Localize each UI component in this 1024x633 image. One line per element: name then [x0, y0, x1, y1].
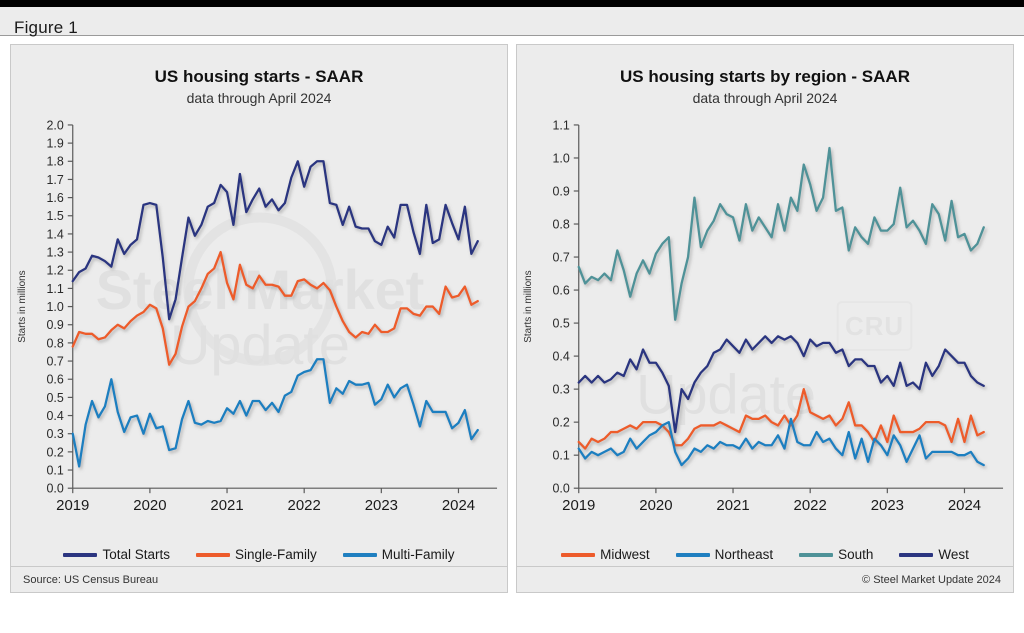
svg-text:1.0: 1.0 — [46, 300, 63, 314]
left-chart-subtitle: data through April 2024 — [11, 90, 507, 106]
svg-text:2023: 2023 — [871, 497, 904, 514]
legend-swatch-icon — [561, 553, 595, 557]
legend-swatch-icon — [676, 553, 710, 557]
right-panel-footer: © Steel Market Update 2024 — [517, 566, 1013, 592]
svg-text:CRU: CRU — [845, 313, 904, 341]
svg-text:0.0: 0.0 — [552, 482, 569, 496]
right-chart-subtitle: data through April 2024 — [517, 90, 1013, 106]
svg-text:0.5: 0.5 — [46, 391, 63, 405]
svg-text:0.3: 0.3 — [552, 383, 569, 397]
svg-text:0.0: 0.0 — [46, 482, 63, 496]
svg-text:0.7: 0.7 — [552, 251, 569, 265]
svg-text:0.3: 0.3 — [46, 427, 63, 441]
svg-text:1.6: 1.6 — [46, 191, 63, 205]
right-chart-svg: UpdateCRU 0.00.10.20.30.40.50.60.70.80.9… — [517, 115, 1013, 530]
left-chart-title: US housing starts - SAAR — [11, 67, 507, 87]
svg-text:1.1: 1.1 — [552, 118, 569, 132]
legend-label: Multi-Family — [382, 547, 455, 562]
svg-text:1.5: 1.5 — [46, 209, 63, 223]
svg-text:2019: 2019 — [56, 497, 89, 514]
svg-text:1.9: 1.9 — [46, 137, 63, 151]
svg-text:1.7: 1.7 — [46, 173, 63, 187]
legend-label: West — [938, 547, 969, 562]
svg-text:2022: 2022 — [794, 497, 827, 514]
svg-text:0.5: 0.5 — [552, 317, 569, 331]
svg-text:1.8: 1.8 — [46, 155, 63, 169]
svg-text:0.7: 0.7 — [46, 355, 63, 369]
svg-text:2021: 2021 — [210, 497, 243, 514]
figure-page: Figure 1 US housing starts - SAAR data t… — [0, 0, 1024, 633]
svg-text:2020: 2020 — [133, 497, 166, 514]
figure-label: Figure 1 — [14, 18, 78, 38]
legend-swatch-icon — [799, 553, 833, 557]
left-chart-svg: Steel MarketUpdate 0.00.10.20.30.40.50.6… — [11, 115, 507, 530]
series-line-south — [579, 148, 984, 320]
legend-label: Midwest — [600, 547, 650, 562]
svg-text:0.2: 0.2 — [46, 445, 63, 459]
legend-swatch-icon — [196, 553, 230, 557]
svg-text:1.1: 1.1 — [46, 282, 63, 296]
svg-text:0.8: 0.8 — [552, 218, 569, 232]
svg-text:2022: 2022 — [288, 497, 321, 514]
legend-item-single-family[interactable]: Single-Family — [196, 547, 317, 562]
legend-swatch-icon — [343, 553, 377, 557]
svg-text:0.8: 0.8 — [46, 336, 63, 350]
panels-container: US housing starts - SAAR data through Ap… — [10, 44, 1014, 593]
svg-text:2.0: 2.0 — [46, 118, 63, 132]
svg-text:2020: 2020 — [639, 497, 672, 514]
svg-text:1.0: 1.0 — [552, 151, 569, 165]
left-chart-panel: US housing starts - SAAR data through Ap… — [10, 44, 508, 593]
right-chart-panel: US housing starts by region - SAAR data … — [516, 44, 1014, 593]
svg-text:2024: 2024 — [442, 497, 475, 514]
svg-text:0.1: 0.1 — [46, 464, 63, 478]
svg-text:Starts in millions: Starts in millions — [523, 270, 534, 342]
svg-text:1.2: 1.2 — [46, 264, 63, 278]
svg-text:0.2: 0.2 — [552, 416, 569, 430]
svg-text:0.4: 0.4 — [552, 350, 569, 364]
left-chart-legend: Total StartsSingle-FamilyMulti-Family — [11, 547, 507, 562]
legend-label: Total Starts — [102, 547, 170, 562]
right-plot-area: UpdateCRU 0.00.10.20.30.40.50.60.70.80.9… — [517, 115, 1013, 530]
svg-text:0.6: 0.6 — [46, 373, 63, 387]
svg-text:2021: 2021 — [716, 497, 749, 514]
svg-text:0.9: 0.9 — [552, 184, 569, 198]
svg-text:0.6: 0.6 — [552, 284, 569, 298]
svg-text:2024: 2024 — [948, 497, 981, 514]
svg-text:1.3: 1.3 — [46, 246, 63, 260]
figure-header: Figure 1 — [0, 7, 1024, 36]
svg-text:2023: 2023 — [365, 497, 398, 514]
legend-item-west[interactable]: West — [899, 547, 969, 562]
legend-label: Northeast — [715, 547, 774, 562]
svg-text:0.1: 0.1 — [552, 449, 569, 463]
legend-label: Single-Family — [235, 547, 317, 562]
left-panel-footer: Source: US Census Bureau — [11, 566, 507, 592]
source-note: Source: US Census Bureau — [11, 574, 158, 586]
svg-text:Update: Update — [170, 314, 350, 376]
legend-item-total-starts[interactable]: Total Starts — [63, 547, 170, 562]
legend-item-midwest[interactable]: Midwest — [561, 547, 650, 562]
legend-swatch-icon — [899, 553, 933, 557]
right-chart-legend: MidwestNortheastSouthWest — [517, 547, 1013, 562]
legend-swatch-icon — [63, 553, 97, 557]
right-chart-title: US housing starts by region - SAAR — [517, 67, 1013, 87]
legend-label: South — [838, 547, 873, 562]
legend-item-south[interactable]: South — [799, 547, 873, 562]
svg-text:1.4: 1.4 — [46, 227, 63, 241]
right-watermark: UpdateCRU — [636, 302, 911, 425]
left-plot-area: Steel MarketUpdate 0.00.10.20.30.40.50.6… — [11, 115, 507, 530]
svg-text:0.9: 0.9 — [46, 318, 63, 332]
top-black-strip — [0, 0, 1024, 7]
svg-text:2019: 2019 — [562, 497, 595, 514]
copyright-note: © Steel Market Update 2024 — [862, 574, 1013, 586]
svg-text:0.4: 0.4 — [46, 409, 63, 423]
svg-text:Starts in millions: Starts in millions — [17, 270, 28, 342]
legend-item-multi-family[interactable]: Multi-Family — [343, 547, 455, 562]
legend-item-northeast[interactable]: Northeast — [676, 547, 774, 562]
